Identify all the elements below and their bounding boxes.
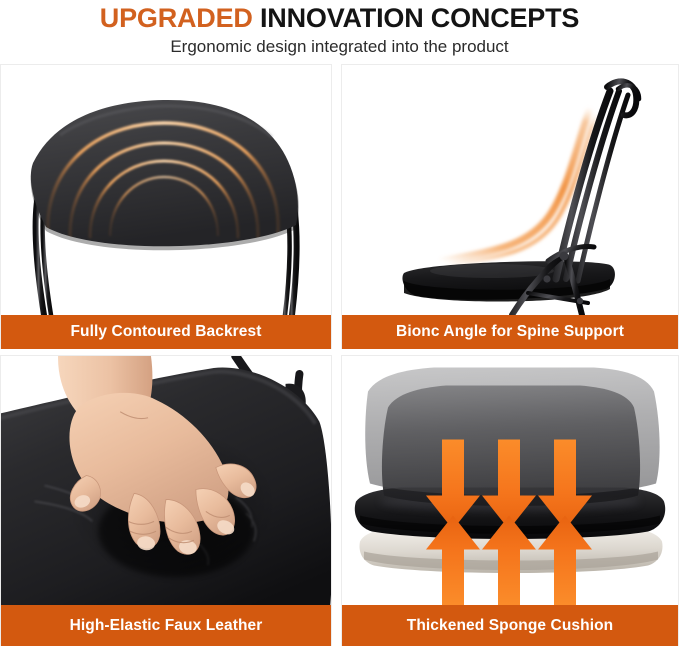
feature-panel-grid: Fully Contoured Backrest [0, 64, 679, 646]
panel-caption-faux-leather: High-Elastic Faux Leather [1, 605, 331, 646]
page-subtitle: Ergonomic design integrated into the pro… [0, 34, 679, 60]
layered-cushion-compression-art [342, 356, 678, 605]
page-title-rest: INNOVATION CONCEPTS [253, 3, 580, 33]
panel-caption-spine-angle: Bionc Angle for Spine Support [342, 315, 678, 349]
feature-cell-sponge-cushion: Thickened Sponge Cushion [338, 355, 679, 646]
chair-side-profile-spine-art [342, 65, 678, 315]
feature-panel-faux-leather: High-Elastic Faux Leather [0, 355, 332, 646]
feature-panel-spine-angle: Bionc Angle for Spine Support [341, 64, 679, 349]
feature-cell-spine-angle: Bionc Angle for Spine Support [338, 64, 679, 355]
panel-caption-sponge-cushion: Thickened Sponge Cushion [342, 605, 678, 646]
chair-backrest-contour-art [1, 65, 331, 315]
feature-cell-faux-leather: High-Elastic Faux Leather [0, 355, 338, 646]
compression-arrows-up [426, 516, 592, 606]
infographic-header: UPGRADED INNOVATION CONCEPTS Ergonomic d… [0, 0, 679, 64]
feature-panel-backrest: Fully Contoured Backrest [0, 64, 332, 349]
feature-panel-sponge-cushion: Thickened Sponge Cushion [341, 355, 679, 646]
hand-pressing-seat-art [1, 356, 331, 605]
feature-cell-backrest: Fully Contoured Backrest [0, 64, 338, 355]
page-title: UPGRADED INNOVATION CONCEPTS [0, 2, 679, 34]
page-title-accent: UPGRADED [100, 3, 253, 33]
panel-caption-backrest: Fully Contoured Backrest [1, 315, 331, 349]
